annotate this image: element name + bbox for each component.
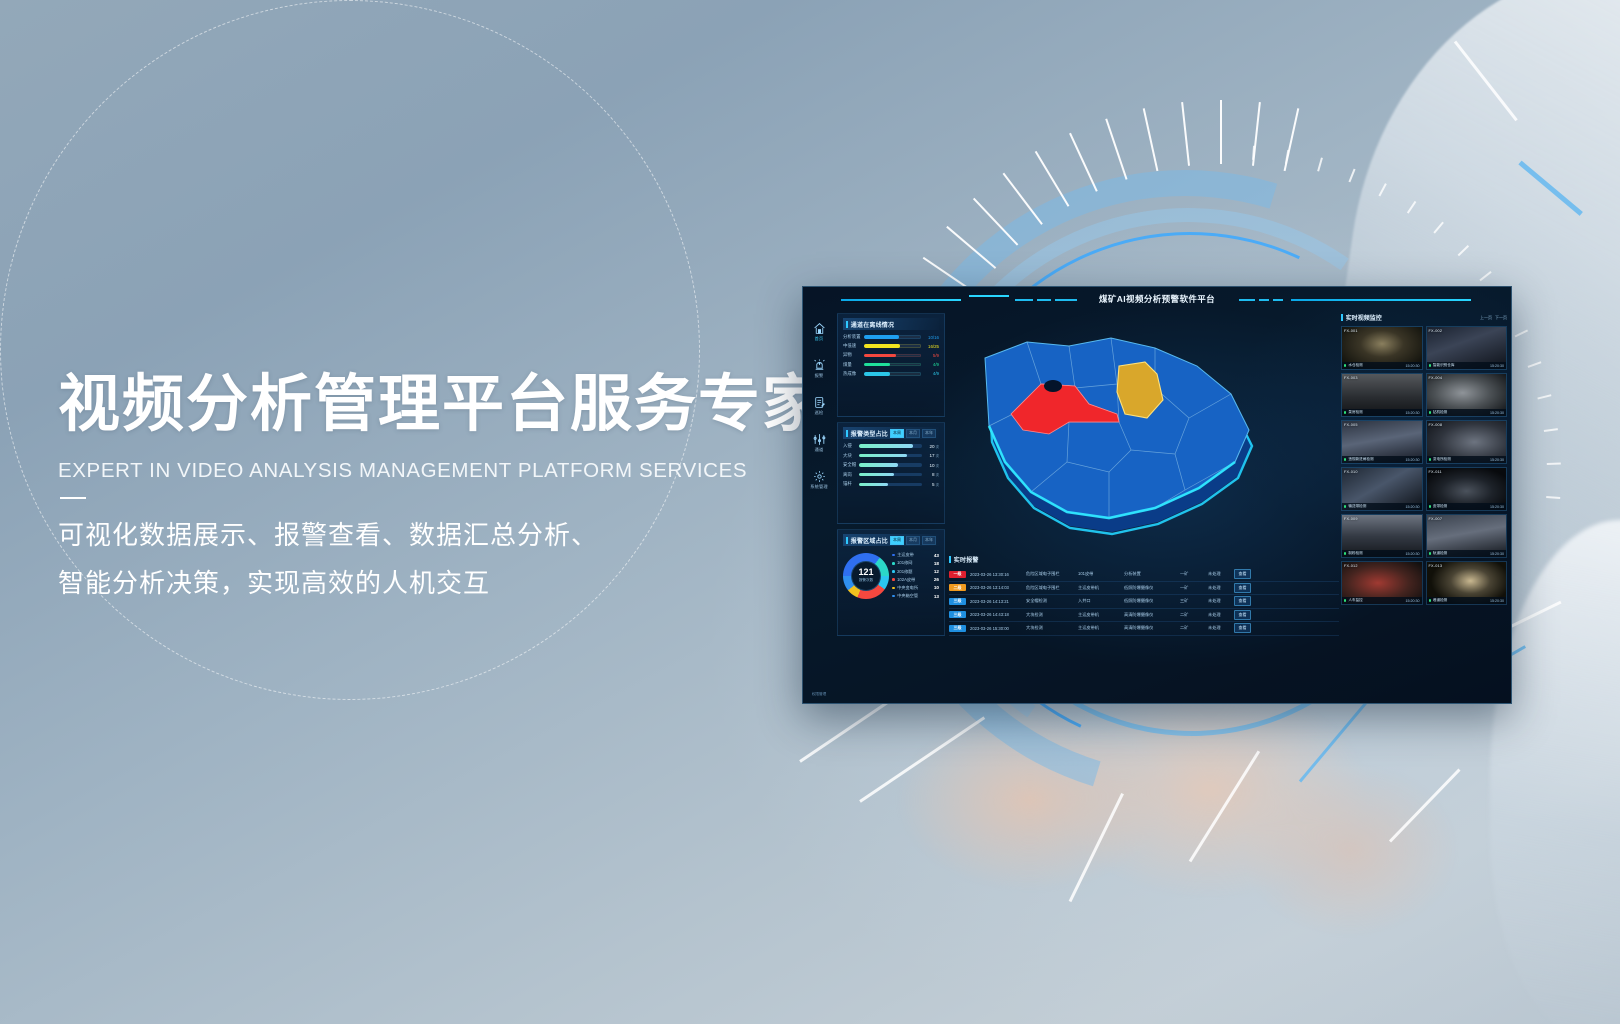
hero-title: 视频分析管理平台服务专家: [58, 372, 818, 437]
legend-value: 26: [934, 577, 939, 582]
channel-row-fill: [864, 354, 896, 358]
alarm-location: 主运皮带机: [1078, 585, 1124, 591]
video-online-dot: [1344, 552, 1346, 554]
alarm-location: 入井口: [1078, 598, 1124, 604]
legend-label: 101修网: [897, 560, 934, 566]
legend-label: 中央变电所: [897, 585, 934, 591]
channel-row-value: 16/25: [921, 344, 939, 349]
alarm-time: 2023-03-26 14:43:18: [970, 612, 1026, 617]
channel-row: 中低速16/25: [843, 343, 939, 349]
inspection-icon: [813, 396, 826, 409]
hero-line-1: 可视化数据展示、报警查看、数据汇总分析、: [58, 511, 818, 559]
alarm-time: 2023-03-26 14:13:21: [970, 599, 1026, 604]
sidebar-item-home[interactable]: 首页: [803, 322, 835, 342]
alarm-type-track: [859, 483, 922, 486]
video-channel-id: FX-003: [1344, 376, 1358, 380]
video-channel-name: 水仓检测: [1348, 363, 1405, 368]
alarm-level-badge: 一级: [949, 571, 966, 578]
alarm-location: 主运皮带机: [1078, 625, 1124, 631]
video-tile-footer: 泵房检测15:20:30: [1342, 409, 1422, 416]
area-legend-row: 101修网18: [892, 560, 939, 566]
video-tile[interactable]: FX-012人车监控15:20:30: [1341, 561, 1423, 605]
donut-total-caption: 报警次数: [859, 578, 873, 583]
video-channel-name: 输送带检测: [1348, 504, 1405, 509]
area-legend-row: 主运皮带43: [892, 552, 939, 558]
video-channel-name: 皮带检测: [1433, 504, 1490, 509]
video-channel-name: 泵房检测: [1348, 410, 1405, 415]
province-map[interactable]: [949, 317, 1279, 549]
alarm-level-badge: 二级: [949, 584, 966, 591]
channel-row: 热成像4/9: [843, 371, 939, 377]
area-tab-本月[interactable]: 本月: [906, 536, 920, 545]
area-legend-row: 中央变电所10: [892, 585, 939, 591]
alarm-type-fill: [859, 454, 907, 457]
type-panel-tabs[interactable]: 本周本月本年: [890, 429, 936, 438]
alarm-status: 未处理: [1208, 612, 1234, 618]
video-timestamp: 15:20:30: [1406, 552, 1420, 556]
video-online-dot: [1429, 552, 1431, 554]
video-channel-id: FX-010: [1344, 470, 1358, 474]
video-timestamp: 15:20:30: [1490, 458, 1504, 462]
alarm-type-fill: [859, 444, 913, 447]
video-timestamp: 15:20:30: [1490, 411, 1504, 415]
alarm-time: 2023-03-26 13:14:03: [970, 585, 1026, 590]
video-channel-name: 巷道检测: [1433, 598, 1490, 603]
video-channel-name: 人车监控: [1348, 598, 1405, 603]
alarm-mine: 二矿: [1180, 625, 1208, 631]
alarm-type-value: 10次: [922, 463, 939, 468]
area-donut-chart: 121 报警次数: [843, 553, 889, 599]
video-channel-id: FX-013: [1429, 564, 1443, 568]
alarm-type: 危险区域电子围栏: [1026, 585, 1078, 591]
channel-row-label: 煤量: [843, 362, 864, 368]
video-channel-id: FX-011: [1429, 470, 1442, 474]
alarm-panel-title: 实时报警: [954, 555, 979, 564]
alarm-level-badge: 三级: [949, 598, 966, 605]
alarm-type-value: 17次: [922, 453, 939, 458]
realtime-alarm-panel: 实时报警 一级2023-03-26 13:30:16危险区域电子围栏101皮带分…: [949, 555, 1339, 697]
video-channel-name: 轨道检测: [1433, 551, 1490, 556]
legend-value: 43: [934, 553, 939, 558]
video-online-dot: [1344, 505, 1346, 507]
legend-label: 102A皮带: [897, 577, 934, 583]
video-timestamp: 15:20:30: [1490, 552, 1504, 556]
alarm-view-button[interactable]: 查看: [1234, 596, 1251, 606]
alarm-panel-header: 实时报警: [949, 555, 1339, 564]
alarm-icon: [813, 359, 826, 372]
alarm-table-row[interactable]: 三级2023-03-26 15:30:00大块检测主运皮带机高清防爆摄像仪二矿未…: [949, 622, 1339, 636]
area-panel-title: 报警区域占比: [851, 536, 888, 545]
video-online-dot: [1429, 411, 1431, 413]
alarm-status: 未处理: [1208, 598, 1234, 604]
video-online-dot: [1344, 458, 1346, 460]
alarm-type-fill: [859, 483, 888, 486]
alarm-type-panel: 报警类型占比 本周本月本年 入侵20次大块17次安全帽10次离岗8次锚杆5次: [837, 422, 945, 524]
channel-row-fill: [864, 363, 890, 367]
alarm-type-row: 离岗8次: [843, 472, 939, 478]
video-timestamp: 15:20:30: [1406, 599, 1420, 603]
legend-value: 12: [934, 569, 939, 574]
map-lake: [1044, 380, 1062, 392]
video-online-dot: [1429, 505, 1431, 507]
alarm-type-row: 入侵20次: [843, 443, 939, 449]
video-channel-name: 钻机检测: [1433, 410, 1490, 415]
video-channel-id: FX-005: [1344, 423, 1358, 427]
donut-total-value: 121: [858, 568, 873, 577]
video-tile-footer: 变电所检测15:20:30: [1427, 456, 1507, 463]
video-online-dot: [1429, 458, 1431, 460]
channel-row-value: 4/9: [921, 371, 939, 376]
alarm-time: 2023-03-26 13:30:16: [970, 572, 1026, 577]
channel-status-panel: 通道在离线情况 分析装置10/16中低速16/25异物5/9煤量4/9热成像4/…: [837, 313, 945, 417]
alarm-type-fill: [859, 473, 894, 476]
legend-label: 主运皮带: [897, 552, 934, 558]
type-panel-title: 报警类型占比: [851, 429, 888, 438]
hero-text-block: 视频分析管理平台服务专家 EXPERT IN VIDEO ANALYSIS MA…: [58, 372, 818, 607]
area-legend: 主运皮带43101修网18201修题12102A皮带26中央变电所10中央箱空管…: [889, 550, 939, 601]
channel-rows: 分析装置10/16中低速16/25异物5/9煤量4/9热成像4/9: [843, 334, 939, 377]
channel-row-track: [864, 372, 921, 376]
sidebar-item-alarm[interactable]: 报警: [803, 359, 835, 379]
video-channel-id: FX-009: [1344, 517, 1358, 521]
legend-color-dot: [892, 554, 895, 557]
channel-row-label: 中低速: [843, 343, 864, 349]
legend-color-dot: [892, 587, 895, 590]
video-tile-footer: 智能识别仓库15:20:30: [1427, 362, 1507, 369]
sidebar-item-channel[interactable]: 通道: [803, 433, 835, 453]
video-panel-title: 实时视频监控: [1346, 313, 1382, 322]
alarm-type-value: 5次: [922, 482, 939, 487]
hero-line-2: 智能分析决策，实现高效的人机交互: [58, 559, 818, 607]
gear-icon: [813, 470, 826, 483]
alarm-location: 101皮带: [1078, 571, 1124, 577]
alarm-type-label: 大块: [843, 453, 859, 459]
dashboard-title: 煤矿AI视频分析预警软件平台: [803, 293, 1511, 305]
video-channel-id: FX-012: [1344, 564, 1358, 568]
alarm-mine: 一矿: [1180, 571, 1208, 577]
legend-color-dot: [892, 595, 895, 598]
alarm-table-body: 一级2023-03-26 13:30:16危险区域电子围栏101皮带分析装置一矿…: [949, 568, 1339, 636]
channel-row-value: 10/16: [921, 335, 939, 340]
area-legend-row: 中央箱空管13: [892, 593, 939, 599]
alarm-area-panel: 报警区域占比 本周本月本年 121 报警次数 主运皮带43101修网18201修…: [837, 529, 945, 636]
dashboard-screen: 煤矿AI视频分析预警软件平台 首页 报警 巡检: [802, 286, 1512, 704]
video-online-dot: [1344, 364, 1346, 366]
video-channel-name: 智能识别仓库: [1433, 363, 1490, 368]
dashboard-left-column: 通道在离线情况 分析装置10/16中低速16/25异物5/9煤量4/9热成像4/…: [837, 313, 945, 699]
alarm-type-row: 安全帽10次: [843, 462, 939, 468]
video-grid: FX-001水仓检测15:20:30FX-002智能识别仓库15:20:30FX…: [1341, 326, 1507, 605]
video-panel-header: 实时视频监控 上一页 下一页: [1341, 313, 1507, 322]
video-online-dot: [1429, 364, 1431, 366]
alarm-status: 未处理: [1208, 625, 1234, 631]
alarm-type-track: [859, 454, 922, 457]
channel-panel-header: 通道在离线情况: [843, 318, 939, 330]
channel-row-label: 分析装置: [843, 334, 864, 340]
area-donut-wrapper: 121 报警次数 主运皮带43101修网18201修题12102A皮带26中央变…: [843, 550, 939, 601]
video-tile[interactable]: FX-003泵房检测15:20:30: [1341, 373, 1423, 417]
legend-value: 18: [934, 561, 939, 566]
alarm-type-track: [859, 473, 922, 476]
area-legend-row: 201修题12: [892, 569, 939, 575]
video-tile[interactable]: FX-013巷道检测15:20:30: [1426, 561, 1508, 605]
alarm-device: 高清防爆摄像仪: [1124, 625, 1180, 631]
video-channel-name: 违规新进闸检测: [1348, 457, 1405, 462]
video-tile-footer: 水仓检测15:20:30: [1342, 362, 1422, 369]
alarm-type-label: 入侵: [843, 443, 859, 449]
alarm-type: 大块检测: [1026, 625, 1078, 631]
alarm-device: 低照防爆摄像仪: [1124, 598, 1180, 604]
legend-value: 13: [934, 594, 939, 599]
channel-row-track: [864, 335, 921, 339]
area-legend-row: 102A皮带26: [892, 577, 939, 583]
video-tile-footer: 违规新进闸检测15:20:30: [1342, 456, 1422, 463]
video-tile-footer: 皮带检测15:20:30: [1427, 503, 1507, 510]
channel-icon: [813, 433, 826, 446]
video-tile[interactable]: FX-009制粉检测15:20:30: [1341, 514, 1423, 558]
area-panel-header: 报警区域占比 本周本月本年: [843, 534, 939, 546]
alarm-table-row[interactable]: 二级2023-03-26 13:14:03危险区域电子围栏主运皮带机低照防爆摄像…: [949, 582, 1339, 596]
video-timestamp: 15:20:30: [1490, 505, 1504, 509]
video-next-page[interactable]: 下一页: [1495, 315, 1507, 321]
alarm-table-row[interactable]: 一级2023-03-26 13:30:16危险区域电子围栏101皮带分析装置一矿…: [949, 568, 1339, 582]
video-tile[interactable]: FX-005违规新进闸检测15:20:30: [1341, 420, 1423, 464]
alarm-type-label: 安全帽: [843, 462, 859, 468]
alarm-status: 未处理: [1208, 571, 1234, 577]
sidebar-label-inspection: 巡检: [803, 410, 835, 416]
alarm-view-button[interactable]: 查看: [1234, 569, 1251, 579]
alarm-type-label: 锚杆: [843, 481, 859, 487]
channel-row-value: 5/9: [921, 353, 939, 358]
alarm-view-button[interactable]: 查看: [1234, 583, 1251, 593]
alarm-mine: 三矿: [1180, 598, 1208, 604]
legend-label: 201修题: [897, 569, 934, 575]
sidebar-item-inspection[interactable]: 巡检: [803, 396, 835, 416]
video-channel-name: 制粉检测: [1348, 551, 1405, 556]
alarm-type: 危险区域电子围栏: [1026, 571, 1078, 577]
alarm-type-value: 8次: [922, 472, 939, 477]
video-online-dot: [1344, 411, 1346, 413]
video-online-dot: [1429, 599, 1431, 601]
legend-color-dot: [892, 578, 895, 581]
channel-row-label: 异物: [843, 352, 864, 358]
video-timestamp: 15:20:30: [1406, 364, 1420, 368]
alarm-mine: 二矿: [1180, 612, 1208, 618]
video-tile-footer: 制粉检测15:20:30: [1342, 550, 1422, 557]
video-tile-footer: 输送带检测15:20:30: [1342, 503, 1422, 510]
legend-color-dot: [892, 570, 895, 573]
video-tile-footer: 人车监控15:20:30: [1342, 597, 1422, 604]
channel-row-track: [864, 363, 921, 367]
video-tile[interactable]: FX-008变电所检测15:20:30: [1426, 420, 1508, 464]
video-tile[interactable]: FX-007轨道检测15:20:30: [1426, 514, 1508, 558]
channel-panel-title: 通道在离线情况: [851, 320, 894, 329]
hero-subtitle: EXPERT IN VIDEO ANALYSIS MANAGEMENT PLAT…: [58, 459, 818, 483]
sidebar-label-home: 首页: [803, 336, 835, 342]
channel-row-fill: [864, 335, 899, 339]
alarm-mine: 一矿: [1180, 585, 1208, 591]
video-tile-footer: 巷道检测15:20:30: [1427, 597, 1507, 604]
sidebar-label-alarm: 报警: [803, 373, 835, 379]
alarm-type-row: 大块17次: [843, 453, 939, 459]
video-monitor-panel: 实时视频监控 上一页 下一页 FX-001水仓检测15:20:30FX-002智…: [1341, 313, 1507, 699]
alarm-type-value: 20次: [922, 444, 939, 449]
alarm-device: 分析装置: [1124, 571, 1180, 577]
video-timestamp: 15:20:30: [1406, 505, 1420, 509]
sidebar-footer-label: 权限管理: [803, 692, 835, 697]
sidebar-item-system[interactable]: 系统管理: [803, 470, 835, 490]
channel-row-track: [864, 344, 921, 348]
type-panel-header: 报警类型占比 本周本月本年: [843, 427, 939, 439]
alarm-level-badge: 三级: [949, 625, 966, 632]
channel-row-label: 热成像: [843, 371, 864, 377]
video-tile[interactable]: FX-011皮带检测15:20:30: [1426, 467, 1508, 511]
video-timestamp: 15:20:30: [1490, 599, 1504, 603]
sidebar-label-system: 系统管理: [803, 484, 835, 490]
video-online-dot: [1344, 599, 1346, 601]
hero-divider: [60, 497, 86, 499]
area-tab-本年[interactable]: 本年: [922, 536, 936, 545]
area-tab-本周[interactable]: 本周: [890, 536, 904, 545]
channel-row: 分析装置10/16: [843, 334, 939, 340]
video-timestamp: 15:20:30: [1406, 411, 1420, 415]
alarm-device: 高清防爆摄像仪: [1124, 612, 1180, 618]
type-tab-本月[interactable]: 本月: [906, 429, 920, 438]
video-tile-footer: 轨道检测15:20:30: [1427, 550, 1507, 557]
dashboard-header: 煤矿AI视频分析预警软件平台: [803, 287, 1511, 313]
legend-color-dot: [892, 562, 895, 565]
channel-row-fill: [864, 344, 900, 348]
video-tile-footer: 钻机检测15:20:30: [1427, 409, 1507, 416]
alarm-type: 安全帽检测: [1026, 598, 1078, 604]
type-rows: 入侵20次大块17次安全帽10次离岗8次锚杆5次: [843, 443, 939, 487]
alarm-type-track: [859, 463, 922, 466]
video-tile[interactable]: FX-001水仓检测15:20:30: [1341, 326, 1423, 370]
alarm-type-label: 离岗: [843, 472, 859, 478]
video-pager[interactable]: 上一页 下一页: [1480, 315, 1507, 321]
legend-label: 中央箱空管: [897, 593, 934, 599]
video-prev-page[interactable]: 上一页: [1480, 315, 1492, 321]
alarm-level-badge: 三级: [949, 611, 966, 618]
alarm-table-row[interactable]: 三级2023-03-26 14:13:21安全帽检测入井口低照防爆摄像仪三矿未处…: [949, 595, 1339, 609]
alarm-table-row[interactable]: 三级2023-03-26 14:43:18大块检测主运皮带机高清防爆摄像仪二矿未…: [949, 609, 1339, 623]
video-channel-id: FX-008: [1429, 423, 1443, 427]
channel-row: 煤量4/9: [843, 362, 939, 368]
alarm-type: 大块检测: [1026, 612, 1078, 618]
video-channel-id: FX-004: [1429, 376, 1443, 380]
channel-row-track: [864, 354, 921, 358]
video-tile[interactable]: FX-002智能识别仓库15:20:30: [1426, 326, 1508, 370]
video-timestamp: 15:20:30: [1406, 458, 1420, 462]
legend-value: 10: [934, 585, 939, 590]
video-channel-id: FX-001: [1344, 329, 1358, 333]
alarm-device: 低照防爆摄像仪: [1124, 585, 1180, 591]
video-channel-id: FX-002: [1429, 329, 1443, 333]
alarm-view-button[interactable]: 查看: [1234, 610, 1251, 620]
video-channel-name: 变电所检测: [1433, 457, 1490, 462]
alarm-type-fill: [859, 463, 898, 466]
alarm-time: 2023-03-26 15:30:00: [970, 626, 1026, 631]
alarm-view-button[interactable]: 查看: [1234, 623, 1251, 633]
video-tile[interactable]: FX-004钻机检测15:20:30: [1426, 373, 1508, 417]
alarm-location: 主运皮带机: [1078, 612, 1124, 618]
sidebar-label-channel: 通道: [803, 447, 835, 453]
alarm-type-track: [859, 444, 922, 447]
donut-center: 121 报警次数: [851, 561, 881, 591]
type-tab-本周[interactable]: 本周: [890, 429, 904, 438]
channel-row-fill: [864, 372, 890, 376]
video-timestamp: 15:20:30: [1490, 364, 1504, 368]
alarm-type-row: 锚杆5次: [843, 481, 939, 487]
video-tile[interactable]: FX-010输送带检测15:20:30: [1341, 467, 1423, 511]
area-panel-tabs[interactable]: 本周本月本年: [890, 536, 936, 545]
alarm-status: 未处理: [1208, 585, 1234, 591]
province-map-svg: [949, 317, 1279, 549]
channel-row-value: 4/9: [921, 362, 939, 367]
video-channel-id: FX-007: [1429, 517, 1443, 521]
dashboard-sidebar: 首页 报警 巡检 通道: [803, 305, 835, 703]
home-icon: [813, 322, 826, 335]
type-tab-本年[interactable]: 本年: [922, 429, 936, 438]
channel-row: 异物5/9: [843, 352, 939, 358]
